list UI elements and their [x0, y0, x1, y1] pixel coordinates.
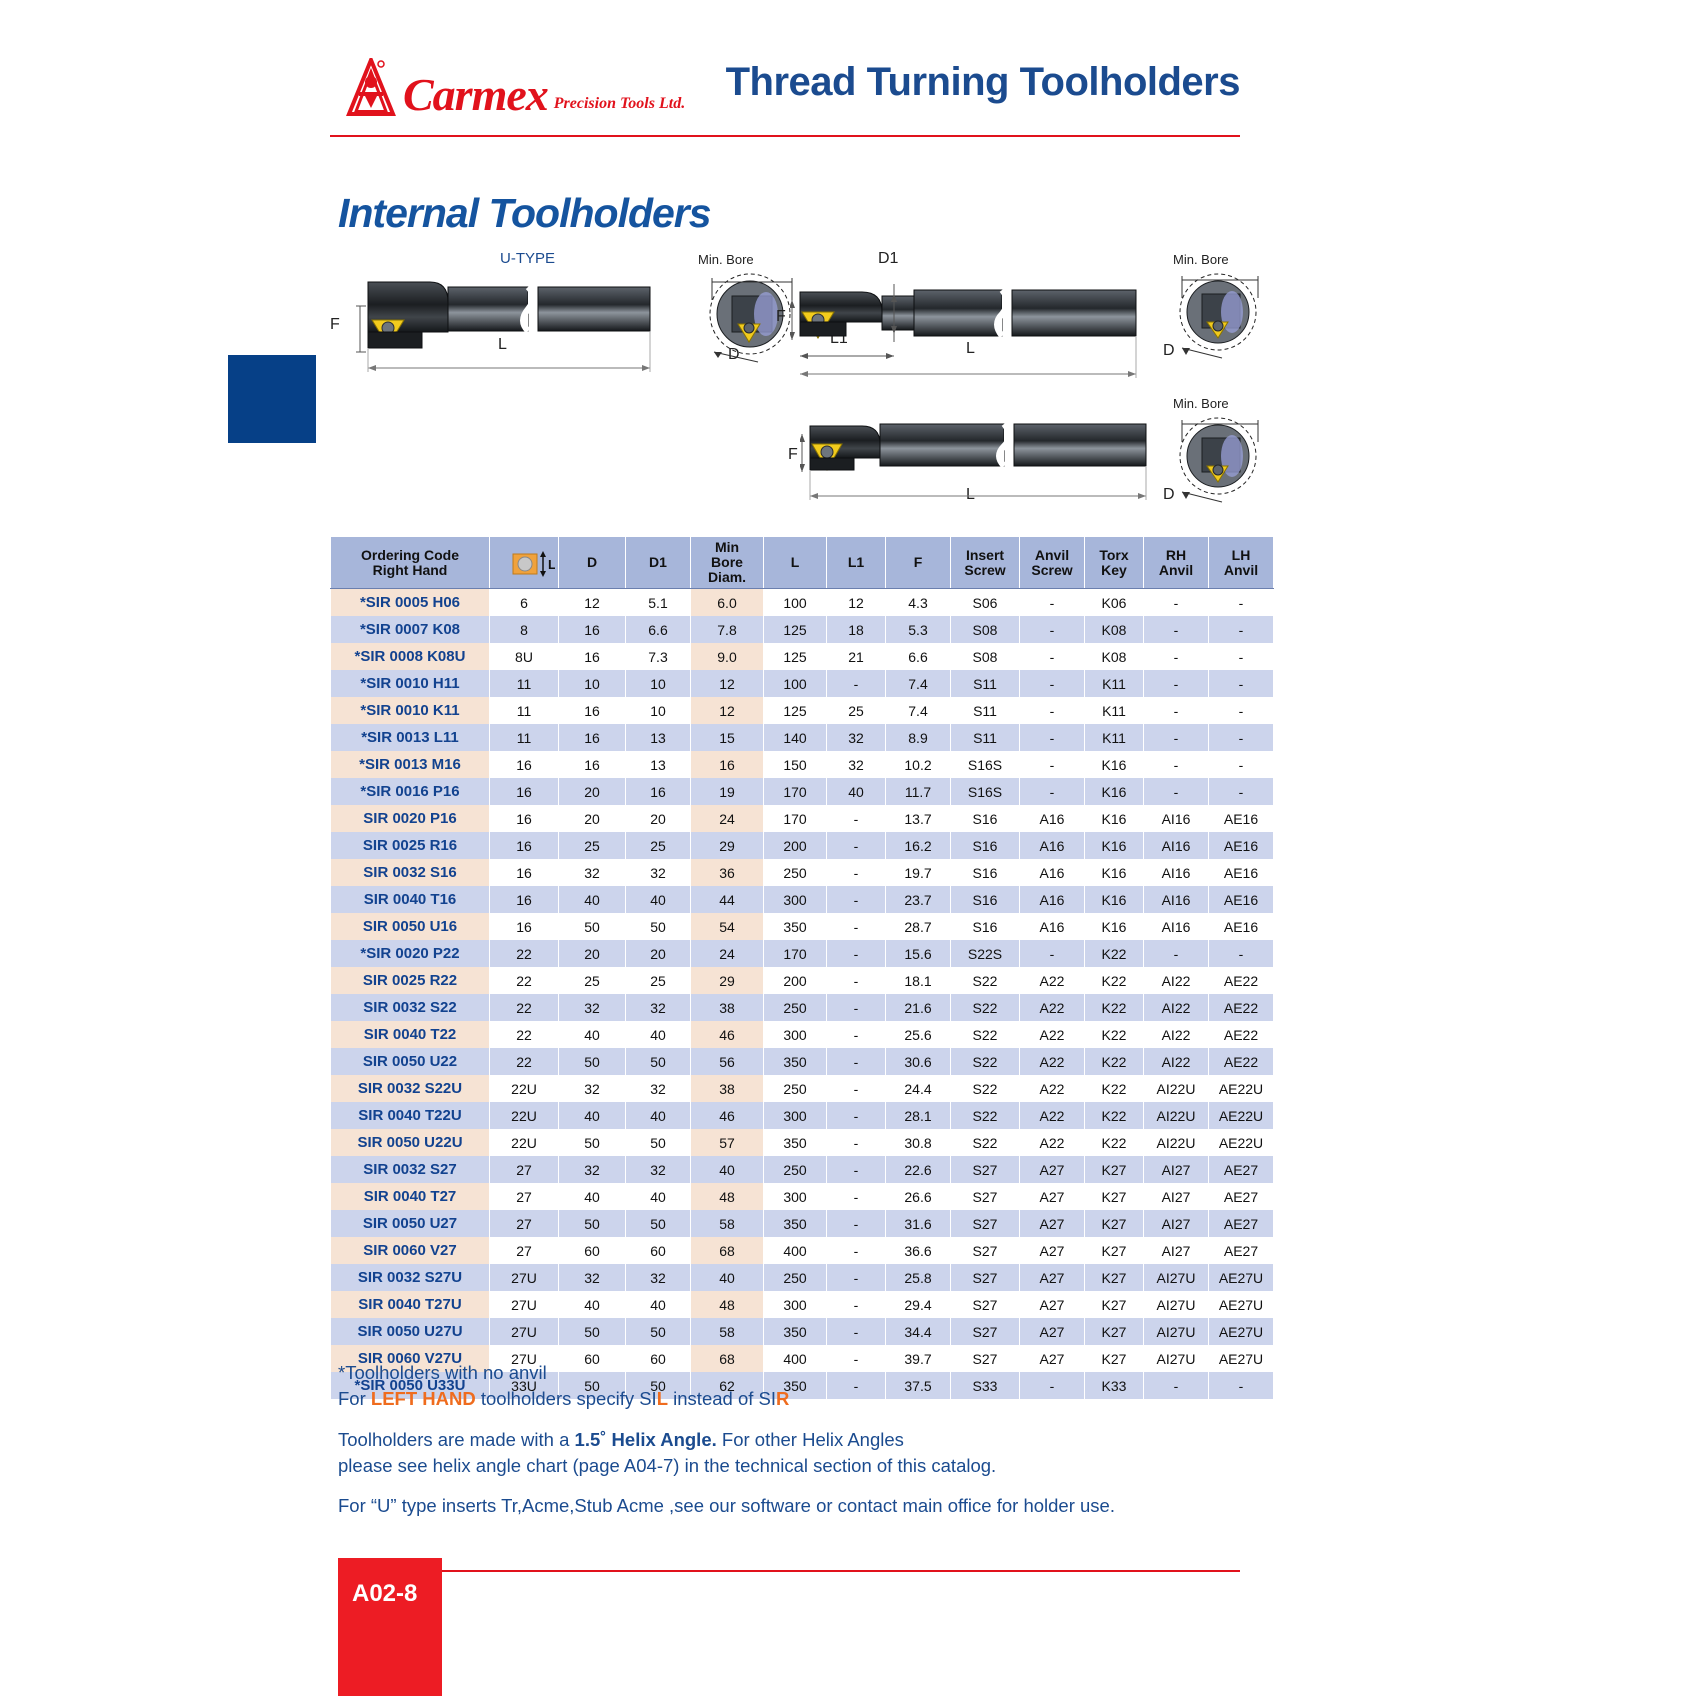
cell-d: 32	[559, 994, 626, 1021]
cell-ins: 22	[490, 994, 559, 1021]
cell-tk: K06	[1085, 589, 1144, 617]
cell-rh: AI16	[1144, 832, 1209, 859]
cell-l: 200	[764, 967, 827, 994]
cell-lh: AE16	[1209, 886, 1274, 913]
col-header-torx-line2: Key	[1087, 563, 1141, 578]
col-header-rh-line1: RH	[1146, 548, 1206, 563]
cell-bore: 29	[691, 832, 764, 859]
cell-bore: 12	[691, 697, 764, 724]
cell-f: 28.7	[886, 913, 951, 940]
cell-l: 300	[764, 886, 827, 913]
cell-tk: K27	[1085, 1210, 1144, 1237]
table-row: *SIR 0005 H066125.16.0100124.3S06-K06--	[331, 589, 1274, 617]
cell-f: 26.6	[886, 1183, 951, 1210]
cell-rh: AI27U	[1144, 1291, 1209, 1318]
cell-f: 4.3	[886, 589, 951, 617]
cell-bore: 19	[691, 778, 764, 805]
header-divider	[330, 135, 1240, 137]
page-number: A02-8	[352, 1580, 442, 1608]
cell-bore: 40	[691, 1156, 764, 1183]
cell-ins: 16	[490, 913, 559, 940]
cell-l: 170	[764, 805, 827, 832]
cell-d1: 32	[626, 1075, 691, 1102]
cell-rh: -	[1144, 724, 1209, 751]
carmex-triangle-logo-icon	[345, 58, 397, 118]
footnote-group-2: Toolholders are made with a 1.5˚ Helix A…	[338, 1427, 1198, 1480]
table-row: SIR 0050 U2222505056350-30.6S22A22K22AI2…	[331, 1048, 1274, 1075]
cell-l1: 21	[827, 643, 886, 670]
cell-l1: -	[827, 1021, 886, 1048]
cell-rh: AI16	[1144, 913, 1209, 940]
f-dim-label-2: F	[776, 308, 786, 326]
cell-l: 250	[764, 1264, 827, 1291]
cell-ins: 27	[490, 1156, 559, 1183]
cell-d: 50	[559, 913, 626, 940]
cell-as: A22	[1020, 1129, 1085, 1156]
footnote-lh-mid2: instead of SI	[668, 1388, 776, 1409]
cell-f: 13.7	[886, 805, 951, 832]
cell-as: -	[1020, 940, 1085, 967]
cell-bore: 38	[691, 1075, 764, 1102]
cell-as: A27	[1020, 1210, 1085, 1237]
cell-is: S27	[951, 1318, 1020, 1345]
cell-lh: AE22U	[1209, 1075, 1274, 1102]
cell-f: 29.4	[886, 1291, 951, 1318]
cell-rh: AI27	[1144, 1183, 1209, 1210]
cell-rh: AI22	[1144, 1021, 1209, 1048]
cell-is: S22	[951, 1021, 1020, 1048]
cell-ins: 22U	[490, 1102, 559, 1129]
cell-d: 50	[559, 1129, 626, 1156]
cell-d: 16	[559, 724, 626, 751]
cell-as: A22	[1020, 994, 1085, 1021]
u-type-label: U-TYPE	[500, 250, 555, 267]
cell-d1: 20	[626, 940, 691, 967]
cell-d: 60	[559, 1237, 626, 1264]
cell-tk: K22	[1085, 967, 1144, 994]
table-row: SIR 0050 U1616505054350-28.7S16A16K16AI1…	[331, 913, 1274, 940]
cell-d1: 50	[626, 1318, 691, 1345]
cell-l1: 18	[827, 616, 886, 643]
cell-d: 50	[559, 1210, 626, 1237]
cell-ordering-code: *SIR 0013 M16	[331, 751, 490, 778]
cell-ordering-code: SIR 0050 U22	[331, 1048, 490, 1075]
cell-f: 28.1	[886, 1102, 951, 1129]
cell-ins: 16	[490, 805, 559, 832]
cell-ins: 8U	[490, 643, 559, 670]
table-row: SIR 0025 R2222252529200-18.1S22A22K22AI2…	[331, 967, 1274, 994]
cell-d1: 50	[626, 1210, 691, 1237]
cell-rh: AI22U	[1144, 1129, 1209, 1156]
table-header-row: Ordering Code Right Hand L	[331, 537, 1274, 589]
cell-tk: K22	[1085, 1021, 1144, 1048]
footnote-helix-line2: please see helix angle chart (page A04-7…	[338, 1453, 1198, 1479]
cell-f: 15.6	[886, 940, 951, 967]
cell-ordering-code: SIR 0040 T22U	[331, 1102, 490, 1129]
cell-f: 7.4	[886, 670, 951, 697]
table-row: SIR 0040 T22U22U404046300-28.1S22A22K22A…	[331, 1102, 1274, 1129]
cell-l1: 32	[827, 751, 886, 778]
cell-is: S27	[951, 1156, 1020, 1183]
cell-d1: 40	[626, 1183, 691, 1210]
cell-as: A27	[1020, 1237, 1085, 1264]
cell-d1: 60	[626, 1237, 691, 1264]
cell-l1: -	[827, 832, 886, 859]
table-row: SIR 0050 U22U22U505057350-30.8S22A22K22A…	[331, 1129, 1274, 1156]
cell-d1: 25	[626, 832, 691, 859]
cell-bore: 58	[691, 1318, 764, 1345]
table-row: *SIR 0020 P2222202024170-15.6S22S-K22--	[331, 940, 1274, 967]
cell-ordering-code: SIR 0032 S27	[331, 1156, 490, 1183]
cell-bore: 44	[691, 886, 764, 913]
min-bore-section-3	[1160, 410, 1280, 510]
cell-tk: K16	[1085, 886, 1144, 913]
cell-lh: -	[1209, 697, 1274, 724]
cell-bore: 48	[691, 1183, 764, 1210]
cell-is: S16	[951, 805, 1020, 832]
cell-l1: -	[827, 1318, 886, 1345]
cell-ins: 27	[490, 1237, 559, 1264]
cell-d: 16	[559, 643, 626, 670]
table-row: SIR 0040 T2727404048300-26.6S27A27K27AI2…	[331, 1183, 1274, 1210]
cell-tk: K22	[1085, 1102, 1144, 1129]
cell-tk: K16	[1085, 751, 1144, 778]
cell-ordering-code: SIR 0060 V27	[331, 1237, 490, 1264]
cell-rh: AI16	[1144, 805, 1209, 832]
table-row: SIR 0032 S1616323236250-19.7S16A16K16AI1…	[331, 859, 1274, 886]
cell-d: 50	[559, 1048, 626, 1075]
brand-subtitle: Precision Tools Ltd.	[554, 96, 685, 118]
cell-rh: AI27	[1144, 1237, 1209, 1264]
cell-as: -	[1020, 616, 1085, 643]
cell-ordering-code: SIR 0032 S22U	[331, 1075, 490, 1102]
table-row: SIR 0050 U27U27U505058350-34.4S27A27K27A…	[331, 1318, 1274, 1345]
cell-ordering-code: SIR 0020 P16	[331, 805, 490, 832]
table-row: SIR 0025 R1616252529200-16.2S16A16K16AI1…	[331, 832, 1274, 859]
cell-bore: 15	[691, 724, 764, 751]
cell-as: A22	[1020, 1021, 1085, 1048]
table-row: SIR 0040 T2222404046300-25.6S22A22K22AI2…	[331, 1021, 1274, 1048]
toolholder-diagram-straight	[790, 270, 1150, 390]
cell-ordering-code: SIR 0050 U22U	[331, 1129, 490, 1156]
cell-ins: 27U	[490, 1291, 559, 1318]
cell-rh: AI22U	[1144, 1075, 1209, 1102]
cell-f: 8.9	[886, 724, 951, 751]
cell-tk: K16	[1085, 778, 1144, 805]
table-row: *SIR 0010 K1111161012125257.4S11-K11--	[331, 697, 1274, 724]
table-row: *SIR 0010 H1111101012100-7.4S11-K11--	[331, 670, 1274, 697]
cell-d1: 10	[626, 697, 691, 724]
cell-lh: AE27	[1209, 1237, 1274, 1264]
cell-rh: AI22	[1144, 967, 1209, 994]
col-header-anvil-screw: Anvil Screw	[1020, 537, 1085, 589]
cell-is: S27	[951, 1291, 1020, 1318]
cell-ordering-code: SIR 0040 T22	[331, 1021, 490, 1048]
cell-f: 24.4	[886, 1075, 951, 1102]
cell-d: 32	[559, 1075, 626, 1102]
cell-ins: 27U	[490, 1264, 559, 1291]
cell-ordering-code: *SIR 0008 K08U	[331, 643, 490, 670]
col-header-insert-screw-line1: Insert	[953, 548, 1017, 563]
cell-is: S22	[951, 994, 1020, 1021]
cell-as: A16	[1020, 859, 1085, 886]
cell-as: -	[1020, 643, 1085, 670]
cell-l: 125	[764, 697, 827, 724]
table-row: *SIR 0008 K08U8U167.39.0125216.6S08-K08-…	[331, 643, 1274, 670]
cell-l1: -	[827, 1075, 886, 1102]
cell-l1: 32	[827, 724, 886, 751]
table-row: SIR 0040 T1616404044300-23.7S16A16K16AI1…	[331, 886, 1274, 913]
cell-lh: AE22	[1209, 967, 1274, 994]
col-header-anvil-screw-line1: Anvil	[1022, 548, 1082, 563]
cell-d: 32	[559, 1156, 626, 1183]
cell-tk: K11	[1085, 697, 1144, 724]
cell-d1: 16	[626, 778, 691, 805]
cell-rh: -	[1144, 616, 1209, 643]
cell-is: S27	[951, 1183, 1020, 1210]
cell-rh: -	[1144, 751, 1209, 778]
cell-ordering-code: SIR 0025 R22	[331, 967, 490, 994]
cell-rh: -	[1144, 670, 1209, 697]
cell-lh: -	[1209, 643, 1274, 670]
cell-l: 300	[764, 1021, 827, 1048]
cell-l1: -	[827, 967, 886, 994]
col-header-torx-line1: Torx	[1087, 548, 1141, 563]
cell-ins: 22	[490, 1021, 559, 1048]
cell-d1: 40	[626, 1102, 691, 1129]
cell-lh: AE27U	[1209, 1264, 1274, 1291]
cell-d1: 40	[626, 1021, 691, 1048]
diagram-area: U-TYPE F L	[330, 248, 1260, 523]
cell-l: 250	[764, 1156, 827, 1183]
cell-l1: -	[827, 940, 886, 967]
cell-is: S16	[951, 913, 1020, 940]
cell-tk: K27	[1085, 1156, 1144, 1183]
cell-lh: -	[1209, 778, 1274, 805]
cell-d1: 40	[626, 1291, 691, 1318]
cell-f: 5.3	[886, 616, 951, 643]
table-row: SIR 0020 P1616202024170-13.7S16A16K16AI1…	[331, 805, 1274, 832]
cell-ins: 22	[490, 940, 559, 967]
cell-as: A27	[1020, 1291, 1085, 1318]
cell-l1: 40	[827, 778, 886, 805]
cell-d: 40	[559, 1021, 626, 1048]
cell-l: 200	[764, 832, 827, 859]
cell-is: S08	[951, 643, 1020, 670]
cell-bore: 46	[691, 1102, 764, 1129]
cell-ins: 16	[490, 832, 559, 859]
cell-rh: AI27U	[1144, 1264, 1209, 1291]
cell-l: 140	[764, 724, 827, 751]
cell-tk: K27	[1085, 1237, 1144, 1264]
col-header-l1: L1	[827, 537, 886, 589]
footnote-lh-strong: LEFT HAND	[371, 1388, 476, 1409]
cell-bore: 9.0	[691, 643, 764, 670]
cell-is: S16	[951, 859, 1020, 886]
col-header-f: F	[886, 537, 951, 589]
cell-bore: 12	[691, 670, 764, 697]
cell-lh: -	[1209, 1372, 1274, 1399]
toolholder-diagram-bottom	[800, 400, 1160, 515]
cell-d1: 32	[626, 994, 691, 1021]
cell-rh: -	[1144, 940, 1209, 967]
cell-l: 350	[764, 1210, 827, 1237]
cell-lh: AE27	[1209, 1183, 1274, 1210]
cell-bore: 48	[691, 1291, 764, 1318]
cell-d: 40	[559, 1183, 626, 1210]
col-header-rh-anvil: RH Anvil	[1144, 537, 1209, 589]
page-title-header: Thread Turning Toolholders	[726, 60, 1240, 105]
cell-lh: AE16	[1209, 913, 1274, 940]
cell-bore: 58	[691, 1210, 764, 1237]
col-header-insert-screw-line2: Screw	[953, 563, 1017, 578]
footnote-helix-line1: Toolholders are made with a 1.5˚ Helix A…	[338, 1427, 1198, 1453]
cell-tk: K27	[1085, 1318, 1144, 1345]
cell-ordering-code: SIR 0050 U27U	[331, 1318, 490, 1345]
cell-d: 16	[559, 616, 626, 643]
cell-f: 34.4	[886, 1318, 951, 1345]
col-header-min-bore-diam: Min Bore Diam.	[691, 537, 764, 589]
cell-l1: -	[827, 1156, 886, 1183]
page-header: Carmex Precision Tools Ltd. Thread Turni…	[330, 58, 1240, 130]
cell-tk: K22	[1085, 1048, 1144, 1075]
cell-as: -	[1020, 751, 1085, 778]
cell-tk: K22	[1085, 994, 1144, 1021]
cell-l: 300	[764, 1183, 827, 1210]
cell-ordering-code: SIR 0032 S27U	[331, 1264, 490, 1291]
cell-l1: -	[827, 859, 886, 886]
cell-as: A22	[1020, 1048, 1085, 1075]
cell-d: 20	[559, 805, 626, 832]
cell-ordering-code: SIR 0032 S16	[331, 859, 490, 886]
cell-as: -	[1020, 697, 1085, 724]
cell-ordering-code: SIR 0050 U27	[331, 1210, 490, 1237]
cell-ordering-code: *SIR 0020 P22	[331, 940, 490, 967]
f-dim-label-1: F	[330, 316, 340, 334]
cell-tk: K11	[1085, 670, 1144, 697]
table-row: *SIR 0013 L1111161315140328.9S11-K11--	[331, 724, 1274, 751]
cell-ins: 11	[490, 670, 559, 697]
cell-d1: 5.1	[626, 589, 691, 617]
cell-is: S27	[951, 1264, 1020, 1291]
cell-bore: 36	[691, 859, 764, 886]
cell-bore: 29	[691, 967, 764, 994]
cell-lh: AE27U	[1209, 1291, 1274, 1318]
cell-lh: -	[1209, 616, 1274, 643]
cell-l1: -	[827, 1237, 886, 1264]
cell-ordering-code: SIR 0040 T27U	[331, 1291, 490, 1318]
cell-as: A16	[1020, 886, 1085, 913]
cell-ins: 8	[490, 616, 559, 643]
cell-tk: K11	[1085, 724, 1144, 751]
cell-l: 170	[764, 778, 827, 805]
cell-as: A16	[1020, 913, 1085, 940]
cell-l1: -	[827, 1291, 886, 1318]
table-row: SIR 0032 S2222323238250-21.6S22A22K22AI2…	[331, 994, 1274, 1021]
cell-is: S27	[951, 1237, 1020, 1264]
cell-d: 40	[559, 1291, 626, 1318]
col-header-d1: D1	[626, 537, 691, 589]
footnote-lh-l: L	[657, 1388, 668, 1409]
cell-l: 125	[764, 643, 827, 670]
cell-l1: -	[827, 994, 886, 1021]
cell-lh: -	[1209, 589, 1274, 617]
section-color-tab	[228, 355, 316, 443]
cell-l1: -	[827, 1048, 886, 1075]
cell-ins: 16	[490, 751, 559, 778]
cell-d1: 50	[626, 913, 691, 940]
cell-d: 40	[559, 1102, 626, 1129]
cell-d: 32	[559, 1264, 626, 1291]
cell-is: S22	[951, 1129, 1020, 1156]
cell-l: 400	[764, 1237, 827, 1264]
cell-d1: 50	[626, 1129, 691, 1156]
cell-tk: K16	[1085, 832, 1144, 859]
cell-as: -	[1020, 778, 1085, 805]
cell-rh: AI22	[1144, 994, 1209, 1021]
cell-lh: -	[1209, 751, 1274, 778]
cell-ins: 16	[490, 859, 559, 886]
col-header-lh-anvil: LH Anvil	[1209, 537, 1274, 589]
cell-ins: 22U	[490, 1129, 559, 1156]
cell-l1: -	[827, 805, 886, 832]
cell-as: A16	[1020, 832, 1085, 859]
cell-as: A16	[1020, 805, 1085, 832]
cell-lh: AE22	[1209, 1021, 1274, 1048]
cell-l1: -	[827, 1129, 886, 1156]
cell-ordering-code: SIR 0032 S22	[331, 994, 490, 1021]
cell-ins: 16	[490, 778, 559, 805]
table-row: *SIR 0007 K088166.67.8125185.3S08-K08--	[331, 616, 1274, 643]
cell-as: A27	[1020, 1156, 1085, 1183]
cell-d: 50	[559, 1318, 626, 1345]
section-title: Internal Toolholders	[338, 190, 711, 237]
cell-ins: 27U	[490, 1318, 559, 1345]
cell-as: A22	[1020, 967, 1085, 994]
cell-as: -	[1020, 724, 1085, 751]
carmex-logo: Carmex Precision Tools Ltd.	[345, 58, 685, 118]
cell-l: 250	[764, 994, 827, 1021]
cell-d1: 50	[626, 1048, 691, 1075]
cell-d1: 32	[626, 1264, 691, 1291]
cell-lh: AE27U	[1209, 1318, 1274, 1345]
cell-d1: 13	[626, 724, 691, 751]
cell-l1: 25	[827, 697, 886, 724]
col-header-bore-line1: Min	[693, 540, 761, 555]
cell-bore: 24	[691, 940, 764, 967]
cell-tk: K08	[1085, 616, 1144, 643]
specifications-table-body: *SIR 0005 H066125.16.0100124.3S06-K06--*…	[331, 589, 1274, 1400]
brand-name: Carmex	[403, 72, 548, 118]
table-row: SIR 0032 S22U22U323238250-24.4S22A22K22A…	[331, 1075, 1274, 1102]
min-bore-label-3: Min. Bore	[1173, 396, 1229, 411]
col-header-ordering-code-line1: Ordering Code	[333, 548, 487, 563]
cell-is: S08	[951, 616, 1020, 643]
cell-d1: 13	[626, 751, 691, 778]
cell-f: 16.2	[886, 832, 951, 859]
cell-l: 350	[764, 1048, 827, 1075]
catalog-page: Carmex Precision Tools Ltd. Thread Turni…	[0, 0, 1696, 1696]
cell-f: 19.7	[886, 859, 951, 886]
cell-l: 100	[764, 589, 827, 617]
col-header-insert-screw: Insert Screw	[951, 537, 1020, 589]
cell-l1: -	[827, 1102, 886, 1129]
cell-as: A27	[1020, 1318, 1085, 1345]
cell-ordering-code: *SIR 0010 K11	[331, 697, 490, 724]
table-row: SIR 0050 U2727505058350-31.6S27A27K27AI2…	[331, 1210, 1274, 1237]
cell-ins: 11	[490, 724, 559, 751]
cell-tk: K22	[1085, 1129, 1144, 1156]
